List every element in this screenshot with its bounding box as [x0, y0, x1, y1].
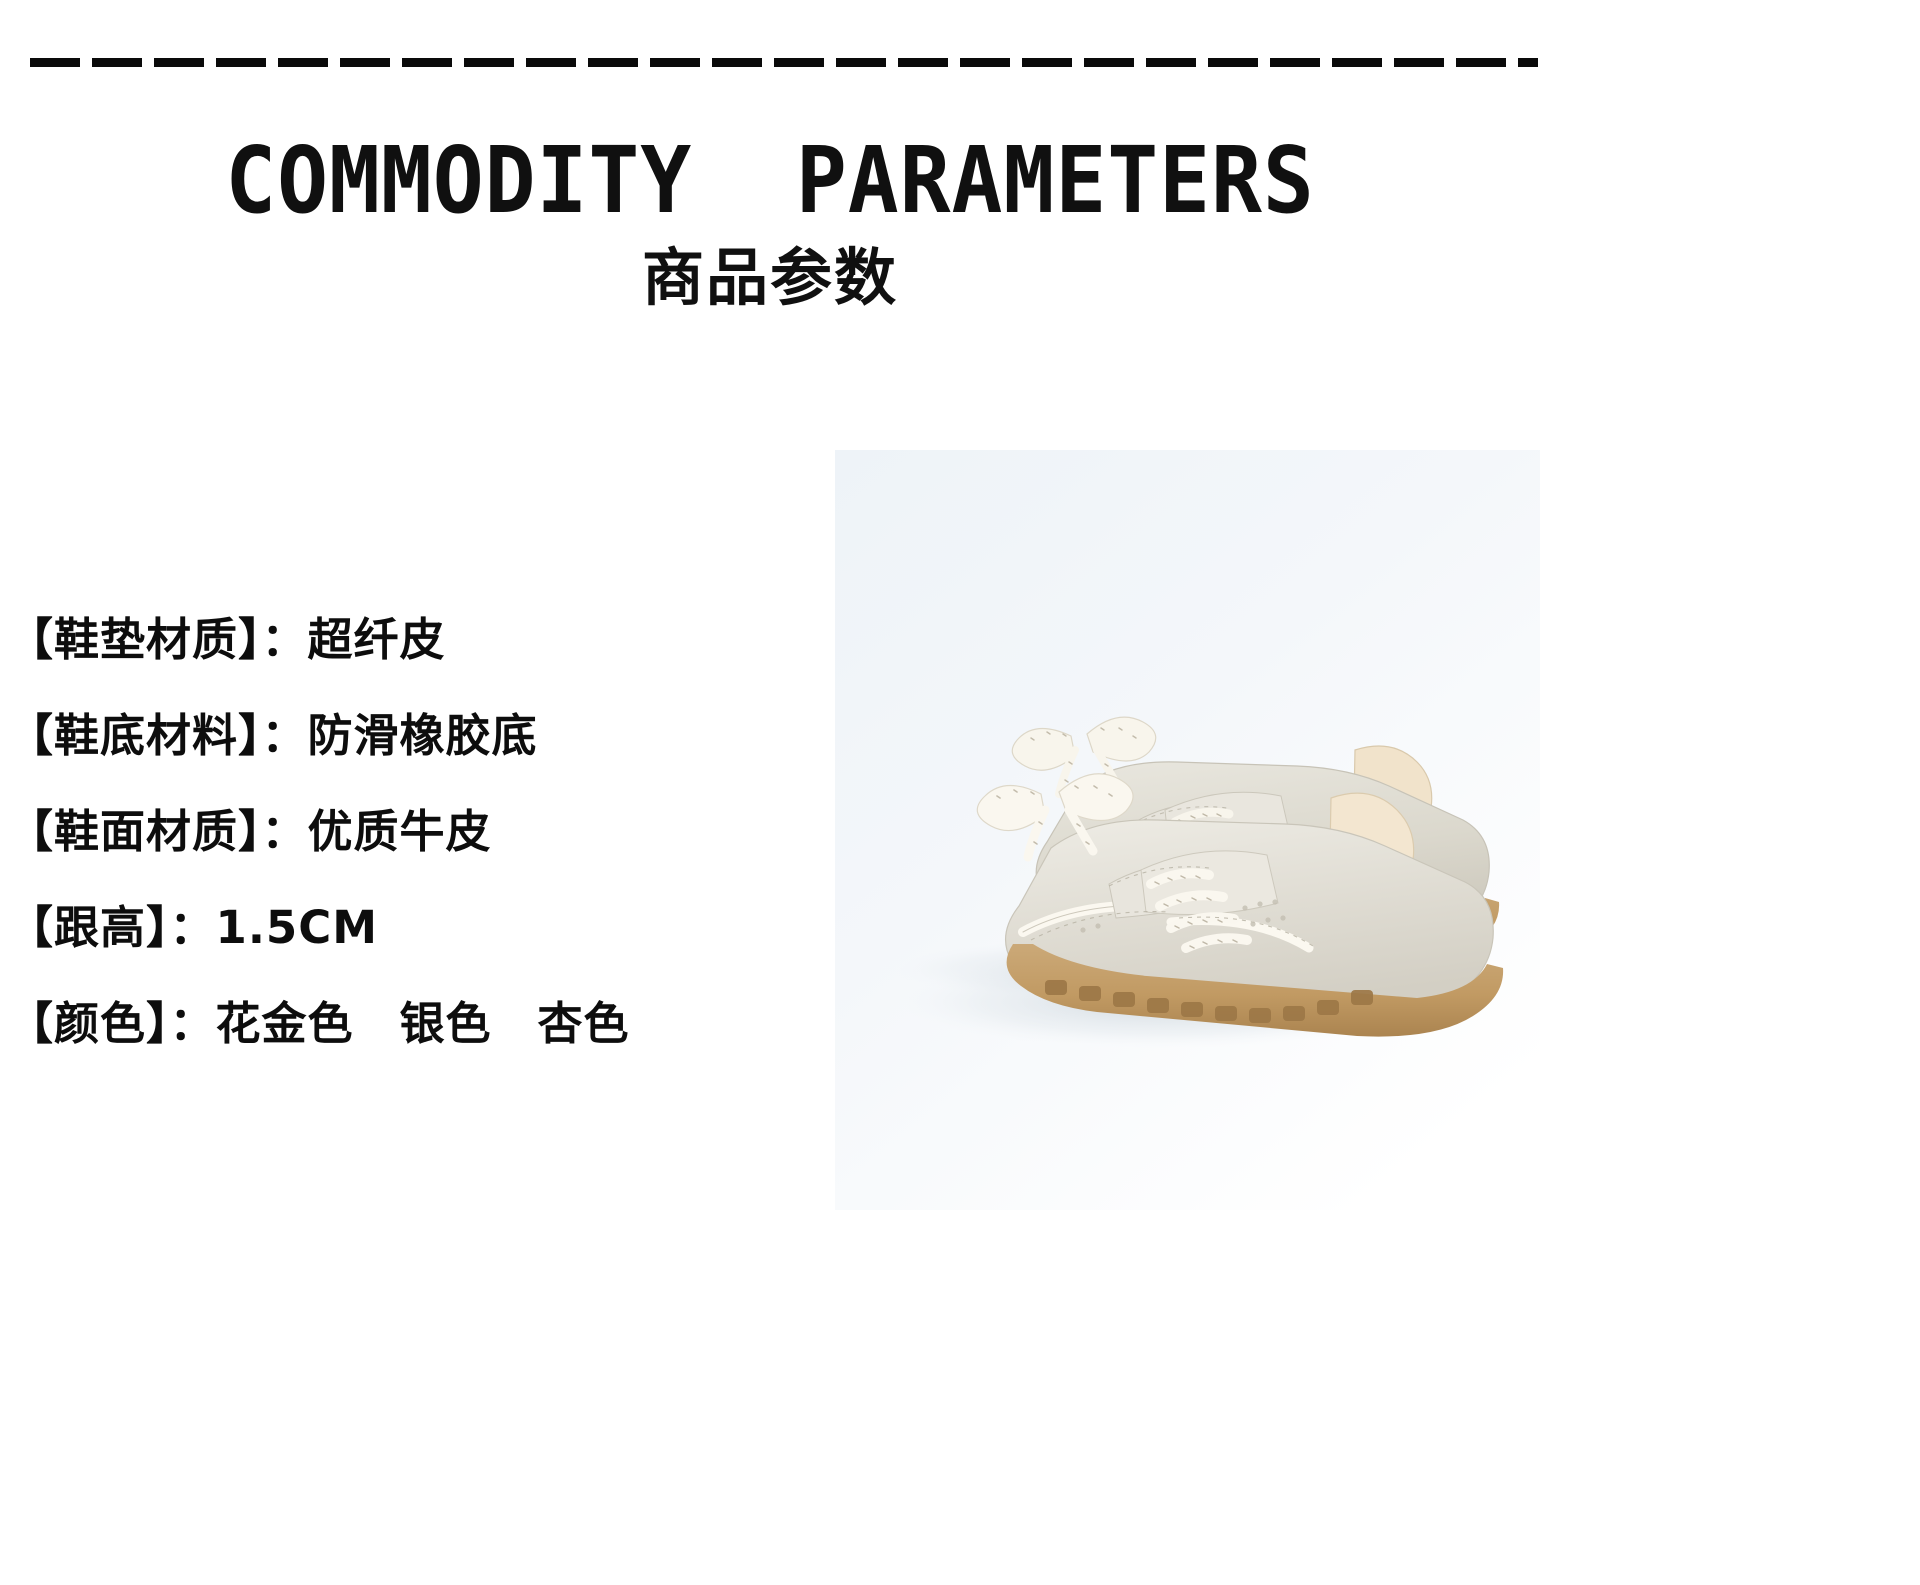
product-detail-page: COMMODITY PARAMETERS 商品参数 【鞋垫材质】：超纤皮 【鞋底…: [0, 0, 1920, 1585]
sneaker-pair-illustration: [835, 450, 1540, 1210]
parameter-value: 优质牛皮: [308, 805, 492, 858]
parameter-label: 【鞋面材质】: [8, 805, 262, 858]
parameter-value: 花金色 银色 杏色: [216, 997, 630, 1050]
parameter-row-heel-height: 【跟高】：1.5CM: [8, 880, 788, 976]
parameter-list: 【鞋垫材质】：超纤皮 【鞋底材料】：防滑橡胶底 【鞋面材质】：优质牛皮 【跟高】…: [8, 592, 788, 1072]
product-photo: [835, 450, 1540, 1210]
parameter-separator: ：: [170, 901, 216, 954]
parameter-label: 【鞋垫材质】: [8, 613, 262, 666]
parameter-row-upper-material: 【鞋面材质】：优质牛皮: [8, 784, 788, 880]
parameter-label: 【鞋底材料】: [8, 709, 262, 762]
page-header: COMMODITY PARAMETERS 商品参数: [0, 132, 1540, 312]
parameter-separator: ：: [262, 709, 308, 762]
parameter-value: 1.5CM: [216, 901, 379, 954]
top-dashed-divider: [30, 58, 1538, 67]
parameter-separator: ：: [262, 805, 308, 858]
page-title-chinese: 商品参数: [0, 244, 1540, 312]
parameter-value: 防滑橡胶底: [308, 709, 538, 762]
parameter-label: 【跟高】: [8, 901, 170, 954]
parameter-row-outsole-material: 【鞋底材料】：防滑橡胶底: [8, 688, 788, 784]
page-title-english: COMMODITY PARAMETERS: [62, 132, 1479, 230]
parameter-row-insole-material: 【鞋垫材质】：超纤皮: [8, 592, 788, 688]
parameter-row-color: 【颜色】：花金色 银色 杏色: [8, 976, 788, 1072]
parameter-separator: ：: [170, 997, 216, 1050]
parameter-value: 超纤皮: [308, 613, 446, 666]
parameter-separator: ：: [262, 613, 308, 666]
parameter-label: 【颜色】: [8, 997, 170, 1050]
